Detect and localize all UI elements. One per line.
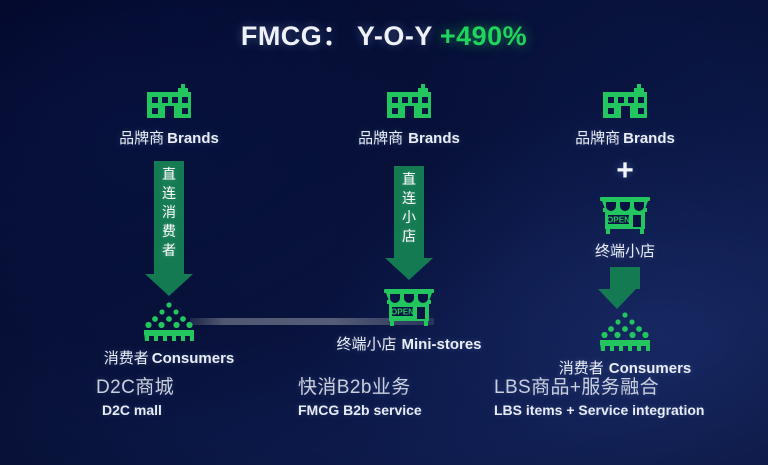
- node-label-mini-stores-cn: 终端小店: [336, 336, 396, 353]
- node-label-consumers-cn: 消费者: [104, 350, 149, 367]
- node-label-brands-cn: 品牌商: [575, 130, 620, 147]
- arrow-head: [145, 274, 193, 296]
- arrow-shaft: [610, 267, 640, 289]
- flow-column-lbs: 品牌商Brands + OPEN: [498, 78, 752, 368]
- page-title: FMCG：Y-O-Y+490%: [0, 14, 768, 53]
- flow-column-d2c: 品牌商Brands 直 连 消 费 者: [42, 78, 296, 368]
- node-label-mini-stores: 终端小店Mini-stores: [336, 333, 481, 354]
- node-label-brands: 品牌商Brands: [358, 127, 460, 148]
- caption-d2c-en: D2C mall: [102, 402, 174, 418]
- down-arrow-icon: [610, 267, 640, 309]
- arrow-char: 小: [402, 208, 416, 227]
- arrow-char: 连: [402, 189, 416, 208]
- arrow-char: 店: [402, 227, 416, 246]
- title-metric: Y-O-Y: [357, 21, 433, 51]
- arrow-char: 者: [162, 241, 176, 260]
- factory-building-icon: [141, 78, 197, 120]
- down-arrow-icon: 直 连 小 店: [394, 166, 424, 280]
- node-label-brands-cn: 品牌商: [119, 130, 164, 147]
- bottom-captions: D2C商城 D2C mall 快消B2b业务 FMCG B2b service …: [0, 372, 768, 442]
- caption-b2b-en: FMCG B2b service: [298, 402, 422, 418]
- node-label-consumers: 消费者Consumers: [104, 347, 235, 368]
- caption-b2b-cn: 快消B2b业务: [298, 372, 422, 399]
- node-label-brands: 品牌商Brands: [575, 127, 675, 148]
- title-growth-value: +490%: [440, 21, 527, 51]
- arrow-shaft-label: 直 连 消 费 者: [154, 161, 184, 274]
- node-label-brands-en: Brands: [408, 130, 460, 147]
- arrow-char: 费: [162, 222, 176, 241]
- node-label-terminal-stores: 终端小店: [595, 240, 655, 261]
- arrow-char: 直: [162, 165, 176, 184]
- factory-building-icon: [381, 78, 437, 120]
- diagram-columns: 品牌商Brands 直 连 消 费 者: [0, 78, 768, 368]
- node-label-terminal-stores-cn: 终端小店: [595, 243, 655, 260]
- svg-text:OPEN: OPEN: [391, 307, 414, 316]
- node-label-brands: 品牌商Brands: [119, 127, 219, 148]
- arrow-char: 连: [162, 184, 176, 203]
- node-label-brands-en: Brands: [623, 130, 675, 147]
- caption-b2b: 快消B2b业务 FMCG B2b service: [298, 372, 422, 418]
- caption-d2c-cn: D2C商城: [96, 372, 174, 399]
- svg-text:OPEN: OPEN: [607, 215, 630, 224]
- node-label-consumers-en: Consumers: [152, 350, 235, 367]
- caption-lbs-en: LBS items + Service integration: [494, 402, 704, 418]
- title-prefix: FMCG：: [241, 21, 350, 51]
- open-store-icon: OPEN: [381, 285, 437, 327]
- arrow-char: 消: [162, 203, 176, 222]
- crowd-consumers-icon: [141, 301, 197, 341]
- arrow-shaft-label: 直 连 小 店: [394, 166, 424, 258]
- arrow-head: [385, 258, 433, 280]
- factory-building-icon: [597, 78, 653, 120]
- caption-lbs: LBS商品+服务融合 LBS items + Service integrati…: [494, 372, 704, 418]
- node-label-mini-stores-en: Mini-stores: [402, 336, 482, 353]
- open-store-icon: OPEN: [597, 193, 653, 235]
- node-label-brands-en: Brands: [167, 130, 219, 147]
- plus-icon: +: [616, 158, 634, 184]
- down-arrow-icon: 直 连 消 费 者: [154, 161, 184, 296]
- arrow-head: [598, 289, 636, 309]
- arrow-char: 直: [402, 170, 416, 189]
- node-label-brands-cn: 品牌商: [358, 130, 403, 147]
- caption-lbs-cn: LBS商品+服务融合: [494, 372, 704, 399]
- caption-d2c: D2C商城 D2C mall: [96, 372, 174, 418]
- crowd-consumers-icon: [597, 311, 653, 351]
